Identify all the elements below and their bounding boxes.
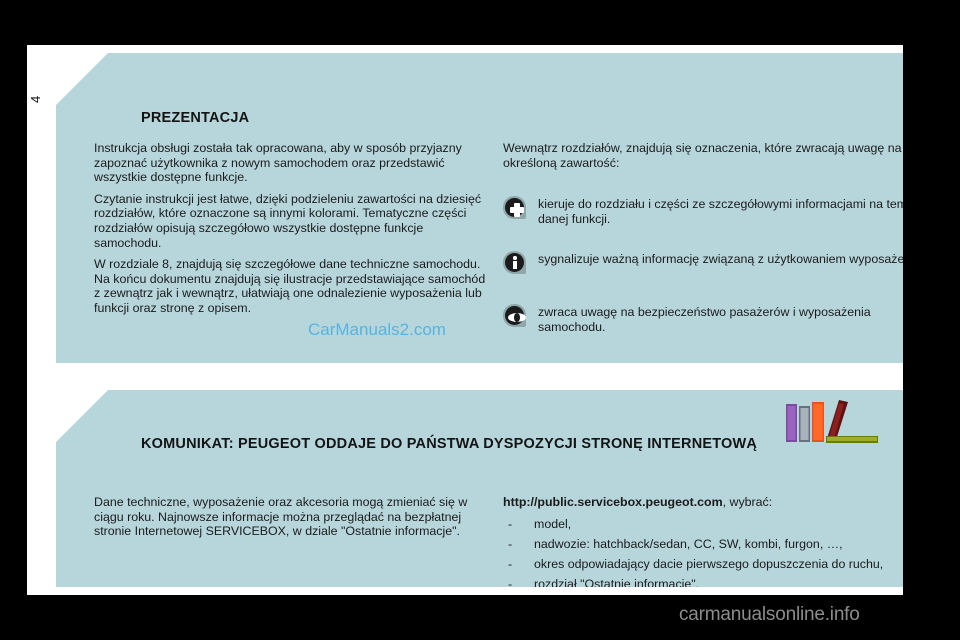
legend-item-label: sygnalizuje ważną informację związaną z … [538, 251, 924, 267]
panel-prezentacja: PREZENTACJA Instrukcja obsługi została t… [56, 53, 903, 363]
panel-komunikat: KOMUNIKAT: PEUGEOT ODDAJE DO PAŃSTWA DYS… [56, 390, 903, 587]
legend-item-info: sygnalizuje ważną informację związaną z … [503, 251, 933, 274]
list-item: okres odpowiadający dacie pierwszego dop… [503, 557, 923, 572]
list-item: model, [503, 517, 923, 532]
paragraph: Czytanie instrukcji jest łatwe, dzięki p… [94, 192, 494, 250]
legend-item-plus: kieruje do rozdziału i części ze szczegó… [503, 196, 923, 226]
watermark-carmanualsonline: carmanualsonline.info [679, 604, 860, 626]
manual-page: 4 PREZENTACJA Instrukcja obsługi została… [27, 45, 903, 595]
url-suffix: , wybrać: [723, 495, 773, 509]
page-title: PREZENTACJA [141, 108, 249, 128]
paragraph: Dane techniczne, wyposażenie oraz akceso… [94, 495, 484, 539]
legend-item-eye: zwraca uwagę na bezpieczeństwo pasażerów… [503, 304, 923, 334]
eye-glyph-icon [505, 306, 524, 325]
watermark-carmanuals2: CarManuals2.com [308, 320, 446, 340]
list-item: nadwozie: hatchback/sedan, CC, SW, kombi… [503, 537, 923, 552]
info-glyph-icon [505, 253, 524, 272]
legend-item-label: zwraca uwagę na bezpieczeństwo pasażerów… [538, 304, 923, 334]
paragraph: Wewnątrz rozdziałów, znajdują się oznacz… [503, 141, 903, 170]
komunikat-right-column: http://public.servicebox.peugeot.com, wy… [503, 495, 923, 597]
plus-marker-icon [503, 196, 526, 219]
page-number: 4 [28, 96, 43, 103]
screenshot-root: 4 PREZENTACJA Instrukcja obsługi została… [0, 0, 960, 640]
eye-marker-icon [503, 304, 526, 327]
komunikat-left-column: Dane techniczne, wyposażenie oraz akceso… [94, 495, 484, 539]
servicebox-url[interactable]: http://public.servicebox.peugeot.com [503, 495, 723, 509]
legend-item-label: kieruje do rozdziału i części ze szczegó… [538, 196, 923, 226]
presentation-right-intro: Wewnątrz rozdziałów, znajdują się oznacz… [503, 141, 903, 170]
section-title: KOMUNIKAT: PEUGEOT ODDAJE DO PAŃSTWA DYS… [141, 434, 781, 454]
books-icon [782, 396, 890, 446]
plus-glyph-icon [505, 198, 524, 217]
info-marker-icon [503, 251, 526, 274]
presentation-left-column: Instrukcja obsługi została tak opracowan… [94, 141, 494, 316]
komunikat-item-list: model, nadwozie: hatchback/sedan, CC, SW… [503, 517, 923, 592]
servicebox-url-line: http://public.servicebox.peugeot.com, wy… [503, 495, 923, 510]
list-item: rozdział "Ostatnie informacje". [503, 577, 923, 592]
paragraph: Instrukcja obsługi została tak opracowan… [94, 141, 494, 185]
paragraph: W rozdziale 8, znajdują się szczegółowe … [94, 257, 494, 315]
